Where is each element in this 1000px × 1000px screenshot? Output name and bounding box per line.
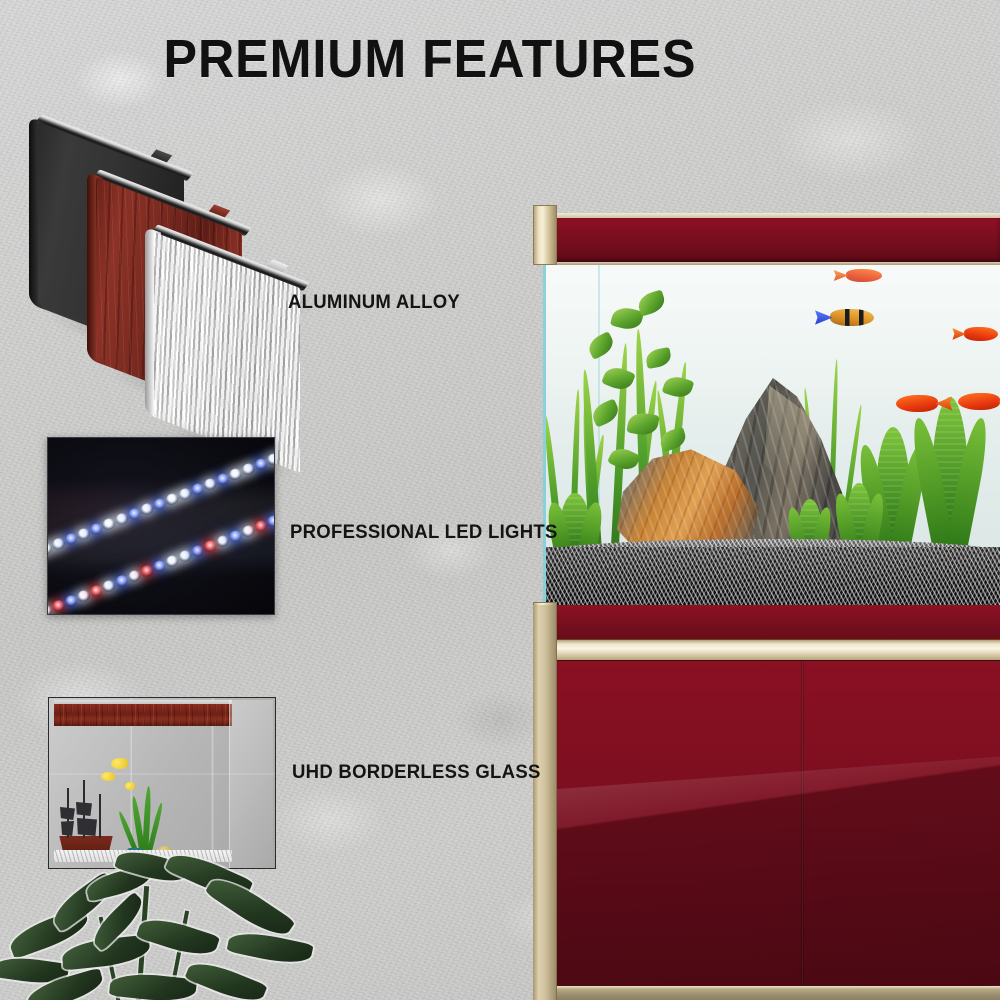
yellow-fish: [101, 772, 115, 781]
orange-swordtail-fish: [964, 327, 998, 341]
orange-swordtail-fish: [896, 395, 938, 412]
feature-label-led-lights: PROFESSIONAL LED LIGHTS: [290, 521, 558, 544]
cabinet-gloss-reflection: [543, 750, 1000, 986]
ship-sail: [60, 807, 75, 820]
gold-corner-post: [533, 205, 557, 265]
cabinet-base-trim: [543, 986, 1000, 1000]
orange-swordtail-fish: [958, 393, 1000, 410]
feature-label-aluminum-alloy: ALUMINUM ALLOY: [288, 291, 460, 314]
aluminum-alloy-image: [20, 115, 300, 415]
plant-leaf: [226, 928, 313, 969]
fish-body: [830, 309, 874, 326]
led-lights-image: [47, 437, 275, 615]
cabinet-top-band: [543, 605, 1000, 639]
feature-label-borderless-glass: UHD BORDERLESS GLASS: [292, 761, 541, 784]
ship-sail: [76, 802, 92, 816]
yellow-fish: [125, 782, 135, 790]
page-title: PREMIUM FEATURES: [30, 28, 830, 90]
yellow-fish: [111, 758, 128, 769]
foreground-houseplant: [0, 831, 320, 1000]
tank-hood: [533, 213, 1000, 265]
cabinet-gold-trim: [543, 639, 1000, 661]
tank-cabinet: [533, 605, 1000, 1000]
bushy-plant: [932, 397, 968, 565]
main-aquarium-product: [533, 205, 1000, 1000]
cabinet-doors[interactable]: [543, 661, 1000, 986]
plant-leaf: [109, 971, 197, 1000]
orange-swordtail-fish: [846, 269, 882, 282]
plant-leaf: [184, 956, 267, 1000]
fish-body: [896, 395, 938, 412]
cabinet-side-post: [533, 605, 557, 1000]
led-strip-lower: [47, 507, 275, 615]
glass-tank: [543, 265, 1000, 605]
banded-barb-fish: [830, 309, 874, 326]
fish-body: [846, 269, 882, 282]
fish-body: [964, 327, 998, 341]
hood-body: [543, 218, 1000, 262]
glass-wood-trim: [54, 704, 232, 726]
fish-body: [958, 393, 1000, 410]
gravel-bed: [546, 547, 1000, 605]
